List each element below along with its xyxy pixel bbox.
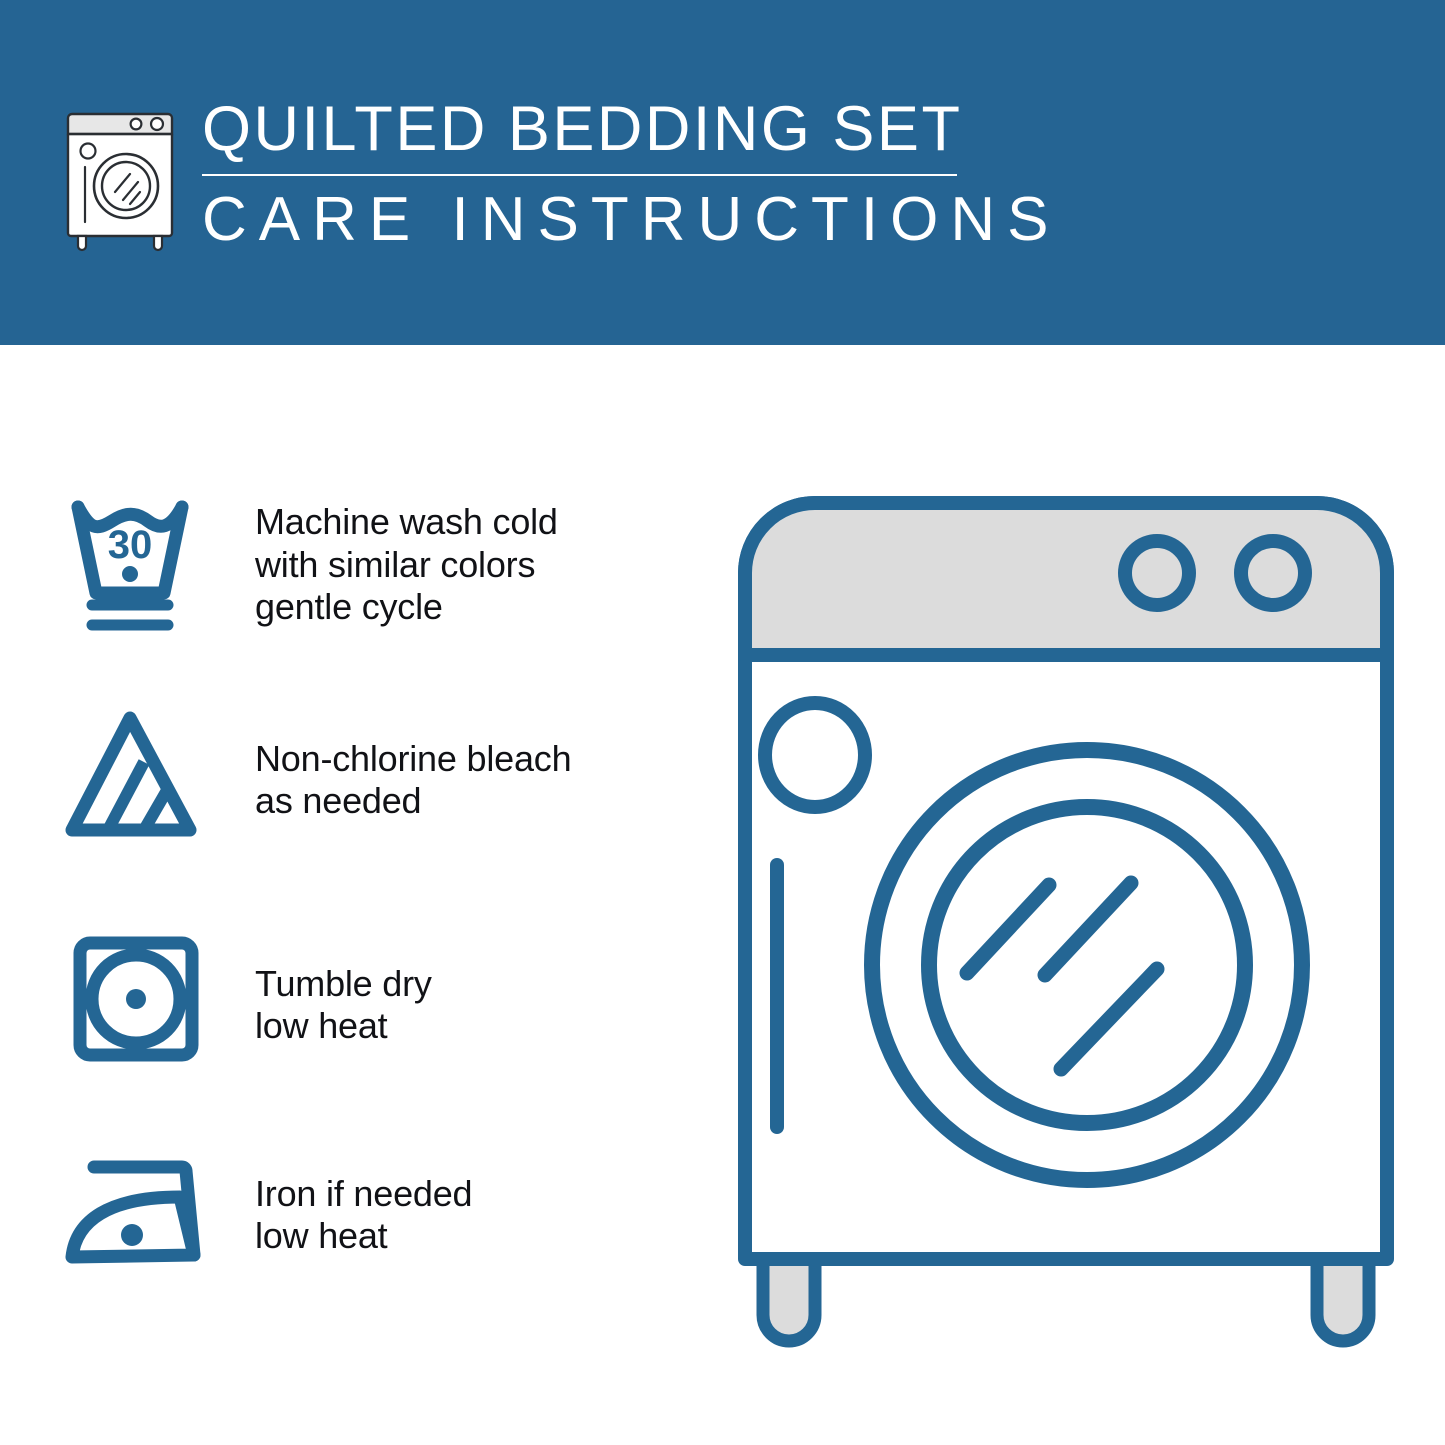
instruction-line: gentle cycle: [255, 586, 558, 628]
instruction-line: Tumble dry: [255, 963, 432, 1005]
front-load-washing-machine-illustration: [715, 465, 1435, 1375]
leg-right: [1317, 1255, 1369, 1341]
care-instructions-page: QUILTED BEDDING SET CARE INSTRUCTIONS 30: [0, 0, 1445, 1445]
instruction-line: with similar colors: [255, 544, 558, 586]
list-item-text: Non-chlorine bleach as needed: [255, 738, 571, 823]
iron-low-heat-icon: [60, 1135, 235, 1295]
list-item-text: Iron if needed low heat: [255, 1173, 472, 1258]
knob-left: [1125, 541, 1189, 605]
instruction-line: Machine wash cold: [255, 501, 558, 543]
page-header: QUILTED BEDDING SET CARE INSTRUCTIONS: [0, 0, 1445, 345]
care-instructions-list: 30 Machine wash cold with similar colors…: [0, 345, 700, 1445]
knob-right: [1241, 541, 1305, 605]
instruction-line: low heat: [255, 1215, 472, 1257]
page-subtitle: CARE INSTRUCTIONS: [202, 186, 1060, 254]
instruction-line: as needed: [255, 780, 571, 822]
washing-machine-icon: [60, 104, 180, 254]
leg-left: [763, 1255, 815, 1341]
header-title-group: QUILTED BEDDING SET CARE INSTRUCTIONS: [202, 96, 1060, 254]
list-item: Tumble dry low heat: [60, 925, 680, 1085]
list-item: Iron if needed low heat: [60, 1135, 680, 1295]
detergent-dial: [765, 703, 865, 807]
wash-tub-30-gentle-icon: 30: [60, 485, 235, 645]
header-content: QUILTED BEDDING SET CARE INSTRUCTIONS: [60, 96, 1060, 254]
tumble-dry-low-icon: [60, 925, 235, 1085]
page-title: QUILTED BEDDING SET: [202, 96, 1060, 162]
list-item-text: Machine wash cold with similar colors ge…: [255, 501, 558, 628]
list-item: 30 Machine wash cold with similar colors…: [60, 485, 680, 645]
non-chlorine-bleach-triangle-icon: [60, 700, 235, 860]
list-item-text: Tumble dry low heat: [255, 963, 432, 1048]
instruction-line: low heat: [255, 1005, 432, 1047]
wash-temp-label: 30: [108, 523, 153, 567]
title-divider: [202, 174, 957, 176]
instruction-line: Iron if needed: [255, 1173, 472, 1215]
list-item: Non-chlorine bleach as needed: [60, 700, 680, 860]
instruction-line: Non-chlorine bleach: [255, 738, 571, 780]
